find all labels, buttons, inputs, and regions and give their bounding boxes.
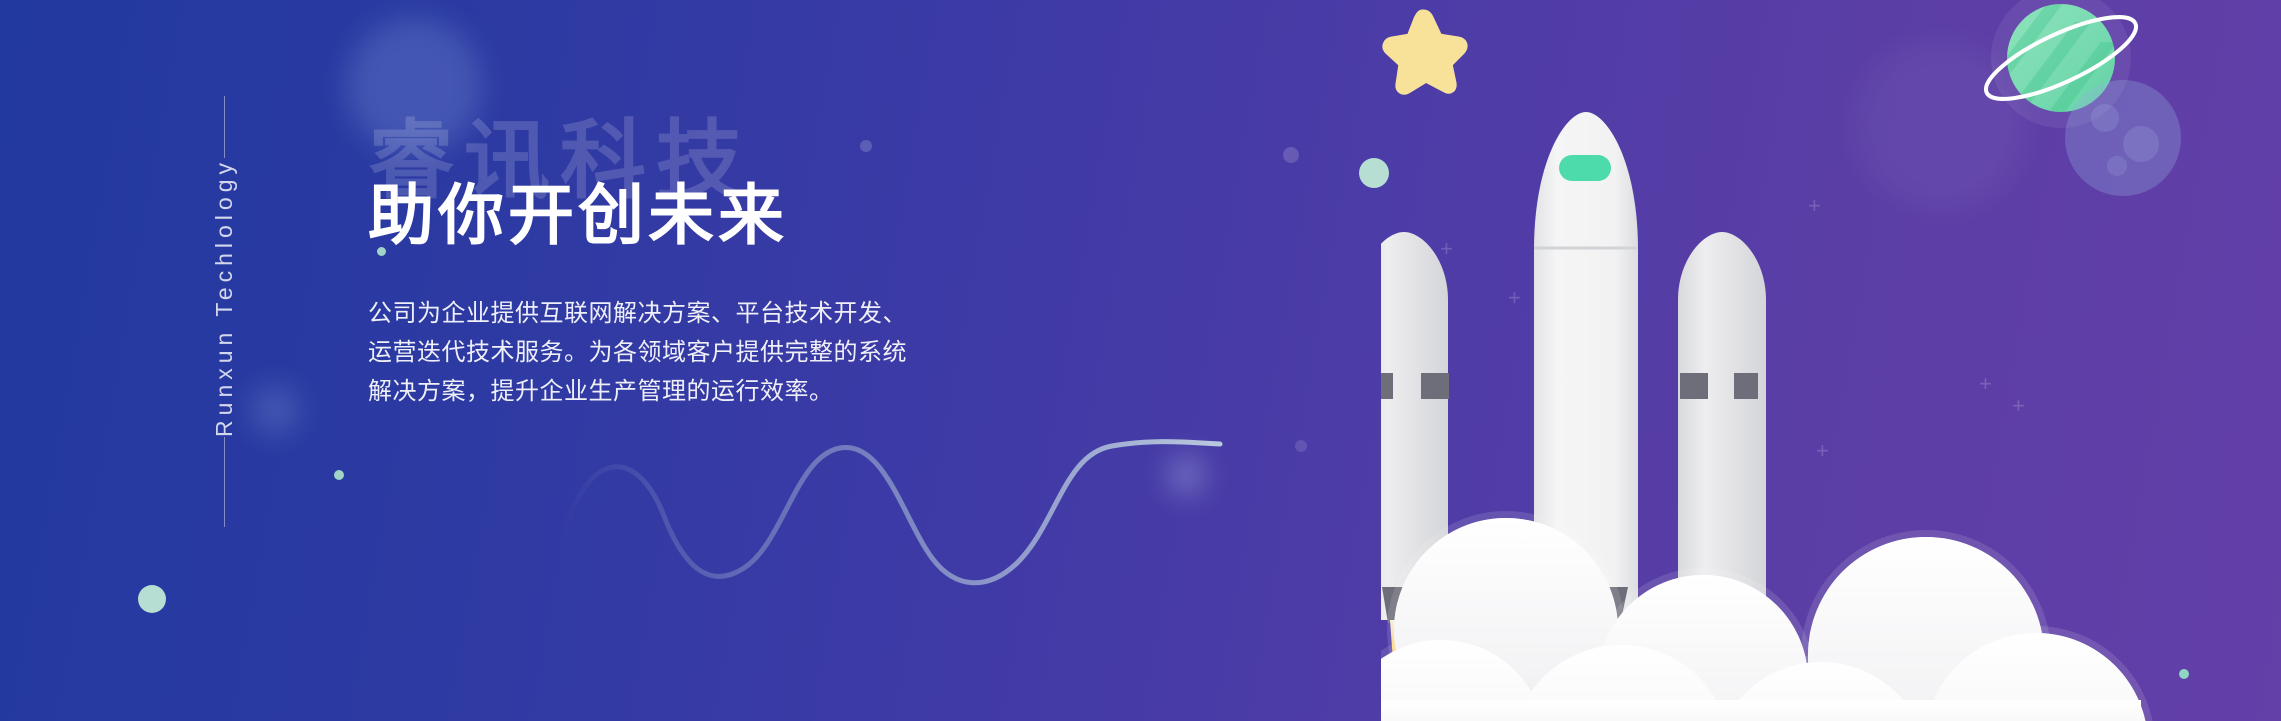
star-icon (1386, 13, 1464, 91)
light-dot-1 (1283, 147, 1299, 163)
vertical-rule-bottom (224, 437, 225, 527)
blurred-blob-mid-left (250, 385, 300, 435)
light-dot-7 (1295, 440, 1307, 452)
rocket-booster-right (1678, 232, 1766, 623)
vertical-brand-text: Runxun Techlology (211, 158, 238, 437)
sine-wave (560, 408, 1240, 608)
moon-icon (2065, 80, 2181, 196)
vertical-brand: Runxun Techlology (196, 96, 252, 526)
hero-banner: + + + + + + Runxun Techlology 睿讯科技 助你开创未… (0, 0, 2281, 721)
rocket-scene (1381, 0, 2281, 721)
mint-dot-3 (334, 470, 344, 480)
hero-description: 公司为企业提供互联网解决方案、平台技术开发、运营迭代技术服务。为各领域客户提供完… (368, 295, 928, 412)
page-title: 助你开创未来 (368, 180, 1208, 251)
vertical-rule-top (224, 96, 225, 158)
rocket-window (1559, 155, 1611, 181)
vertical-brand-label: Runxun Techlology (211, 158, 238, 437)
hero-copy: 睿讯科技 助你开创未来 公司为企业提供互联网解决方案、平台技术开发、运营迭代技术… (368, 118, 1208, 436)
mint-dot-1 (138, 585, 166, 613)
